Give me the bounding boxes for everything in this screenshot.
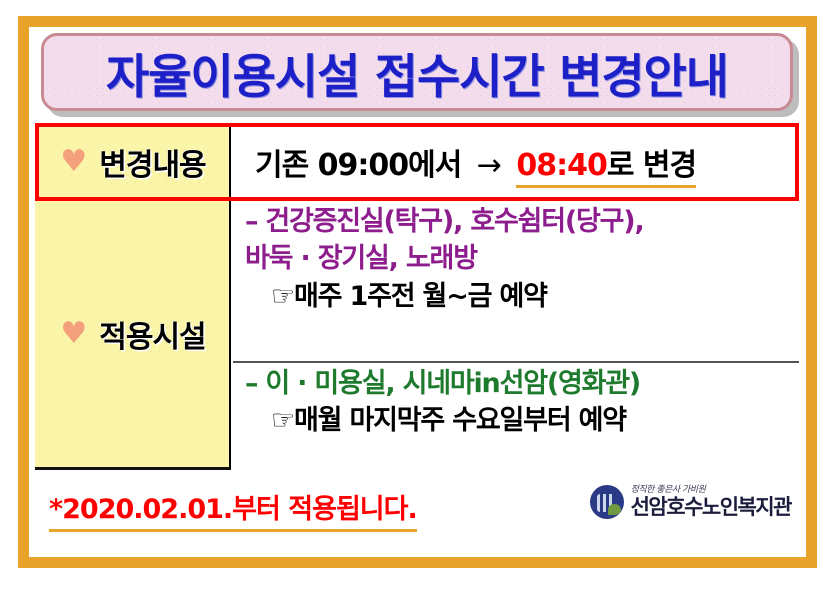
arrow-icon: → xyxy=(471,148,507,183)
label-column: ♥ 변경내용 ♥ 적용시설 xyxy=(35,123,231,470)
dash-marker: – xyxy=(245,368,265,399)
title-banner-box: 자율이용시설 접수시간 변경안내 xyxy=(41,33,793,111)
facility-group-b-line-1: –이 · 미용실, 시네마in선암(영화관) xyxy=(245,365,799,402)
facility-group-a-note: ☞매주 1주전 월~금 예약 xyxy=(245,278,799,315)
dash-marker: – xyxy=(245,206,265,237)
row-change-content: 기존 09:00에서 → 08:40로 변경 xyxy=(233,123,799,201)
logo-text-block: 정직한 좋은사 가비원 선암호수노인복지관 xyxy=(631,486,791,518)
notice-table: ♥ 변경내용 ♥ 적용시설 기존 09:00에서 → 08:40로 변경 xyxy=(35,123,799,470)
logo-organization-name: 선암호수노인복지관 xyxy=(631,497,791,518)
organization-logo: 정직한 좋은사 가비원 선암호수노인복지관 xyxy=(590,485,791,519)
logo-tagline: 정직한 좋은사 가비원 xyxy=(631,486,791,495)
facility-group-a: –건강증진실(탁구), 호수쉼터(당구), 바둑 · 장기실, 노래방 ☞매주 … xyxy=(233,203,799,363)
label-cell-change: ♥ 변경내용 xyxy=(35,123,231,201)
effective-date-note: *2020.02.01.부터 적용됩니다. xyxy=(49,487,417,532)
label-applicable-facilities: 적용시설 xyxy=(99,312,205,356)
facility-group-b-note: ☞매월 마지막주 수요일부터 예약 xyxy=(245,402,799,439)
change-from: 기존 09:00에서 xyxy=(255,148,461,183)
change-content-text: 기존 09:00에서 → 08:40로 변경 xyxy=(255,140,696,184)
label-cell-facilities: ♥ 적용시설 xyxy=(35,201,231,467)
facility-group-a-line-2: 바둑 · 장기실, 노래방 xyxy=(245,240,799,277)
label-change-content: 변경내용 xyxy=(99,140,205,184)
change-to-group: 08:40로 변경 xyxy=(516,148,696,188)
title-banner: 자율이용시설 접수시간 변경안내 xyxy=(41,33,793,111)
change-to-suffix: 로 변경 xyxy=(607,148,696,183)
poster-root: 자율이용시설 접수시간 변경안내 ♥ 변경내용 ♥ 적용시설 기존 09:00에… xyxy=(0,0,835,590)
change-to-time: 08:40 xyxy=(516,148,607,183)
pointing-hand-icon: ☞ xyxy=(271,281,294,312)
facility-group-b: –이 · 미용실, 시네마in선암(영화관) ☞매월 마지막주 수요일부터 예약 xyxy=(233,365,799,467)
facility-group-a-line-1: –건강증진실(탁구), 호수쉼터(당구), xyxy=(245,203,799,240)
heart-icon: ♥ xyxy=(60,319,87,349)
facility-group-a-note-text: 매주 1주전 월~금 예약 xyxy=(294,281,547,312)
poster-inner: 자율이용시설 접수시간 변경안내 ♥ 변경내용 ♥ 적용시설 기존 09:00에… xyxy=(29,27,806,557)
facility-group-b-text-1: 이 · 미용실, 시네마in선암(영화관) xyxy=(265,368,640,399)
pointing-hand-icon: ☞ xyxy=(271,405,294,436)
footer: *2020.02.01.부터 적용됩니다. 정직한 좋은사 가비원 선암호수노인… xyxy=(35,479,799,541)
facility-group-a-text-1: 건강증진실(탁구), 호수쉼터(당구), xyxy=(265,206,643,237)
facility-group-b-note-text: 매월 마지막주 수요일부터 예약 xyxy=(294,405,626,436)
logo-emblem-icon xyxy=(590,485,624,519)
page-title: 자율이용시설 접수시간 변경안내 xyxy=(106,38,728,107)
heart-icon: ♥ xyxy=(60,147,87,177)
